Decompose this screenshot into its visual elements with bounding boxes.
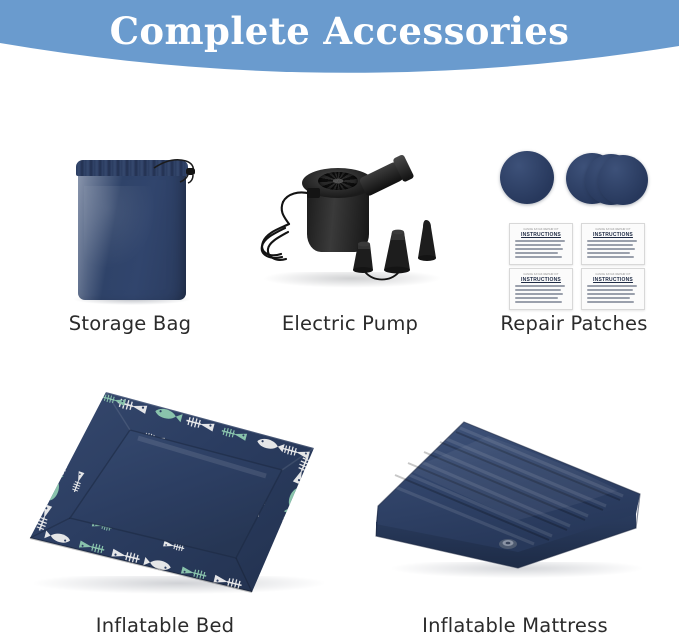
power-cord-icon <box>255 188 325 274</box>
card-body-lines <box>515 285 567 306</box>
infographic-page: Complete Accessories Storage Bag <box>0 0 679 637</box>
card-body-lines <box>515 240 567 261</box>
card-body-lines <box>587 240 639 261</box>
card-kicker: CANOE KAYAK REPAIR KIT <box>590 273 636 276</box>
storage-bag-body <box>78 170 186 300</box>
plug-icon <box>307 188 320 198</box>
header-banner: Complete Accessories <box>0 0 679 92</box>
page-title: Complete Accessories <box>0 8 679 54</box>
repair-patch-circle <box>500 151 554 204</box>
card-title: INSTRUCTIONS <box>582 277 644 283</box>
instruction-card: CANOE KAYAK REPAIR KIT INSTRUCTIONS <box>581 223 645 265</box>
caption-electric-pump: Electric Pump <box>244 312 456 335</box>
inflatable-mattress-art <box>368 410 668 600</box>
instruction-card: CANOE KAYAK REPAIR KIT INSTRUCTIONS <box>509 223 573 265</box>
mattress-valve-icon <box>499 539 517 549</box>
caption-inflatable-mattress: Inflatable Mattress <box>406 614 624 637</box>
card-kicker: CANOE KAYAK REPAIR KIT <box>518 273 564 276</box>
instruction-card: CANOE KAYAK REPAIR KIT INSTRUCTIONS <box>509 268 573 310</box>
card-title: INSTRUCTIONS <box>582 232 644 238</box>
instruction-card: CANOE KAYAK REPAIR KIT INSTRUCTIONS <box>581 268 645 310</box>
card-kicker: CANOE KAYAK REPAIR KIT <box>518 228 564 231</box>
drawstring-cord-icon <box>150 152 206 188</box>
card-title: INSTRUCTIONS <box>510 277 572 283</box>
repair-patch-circle <box>598 155 648 205</box>
caption-storage-bag: Storage Bag <box>34 312 226 335</box>
card-body-lines <box>587 285 639 306</box>
caption-inflatable-bed: Inflatable Bed <box>60 614 270 637</box>
nozzle-attachments-icon <box>340 214 452 286</box>
card-kicker: CANOE KAYAK REPAIR KIT <box>590 228 636 231</box>
caption-repair-patches: Repair Patches <box>472 312 676 335</box>
card-title: INSTRUCTIONS <box>510 232 572 238</box>
inflatable-bed-art <box>14 386 344 606</box>
